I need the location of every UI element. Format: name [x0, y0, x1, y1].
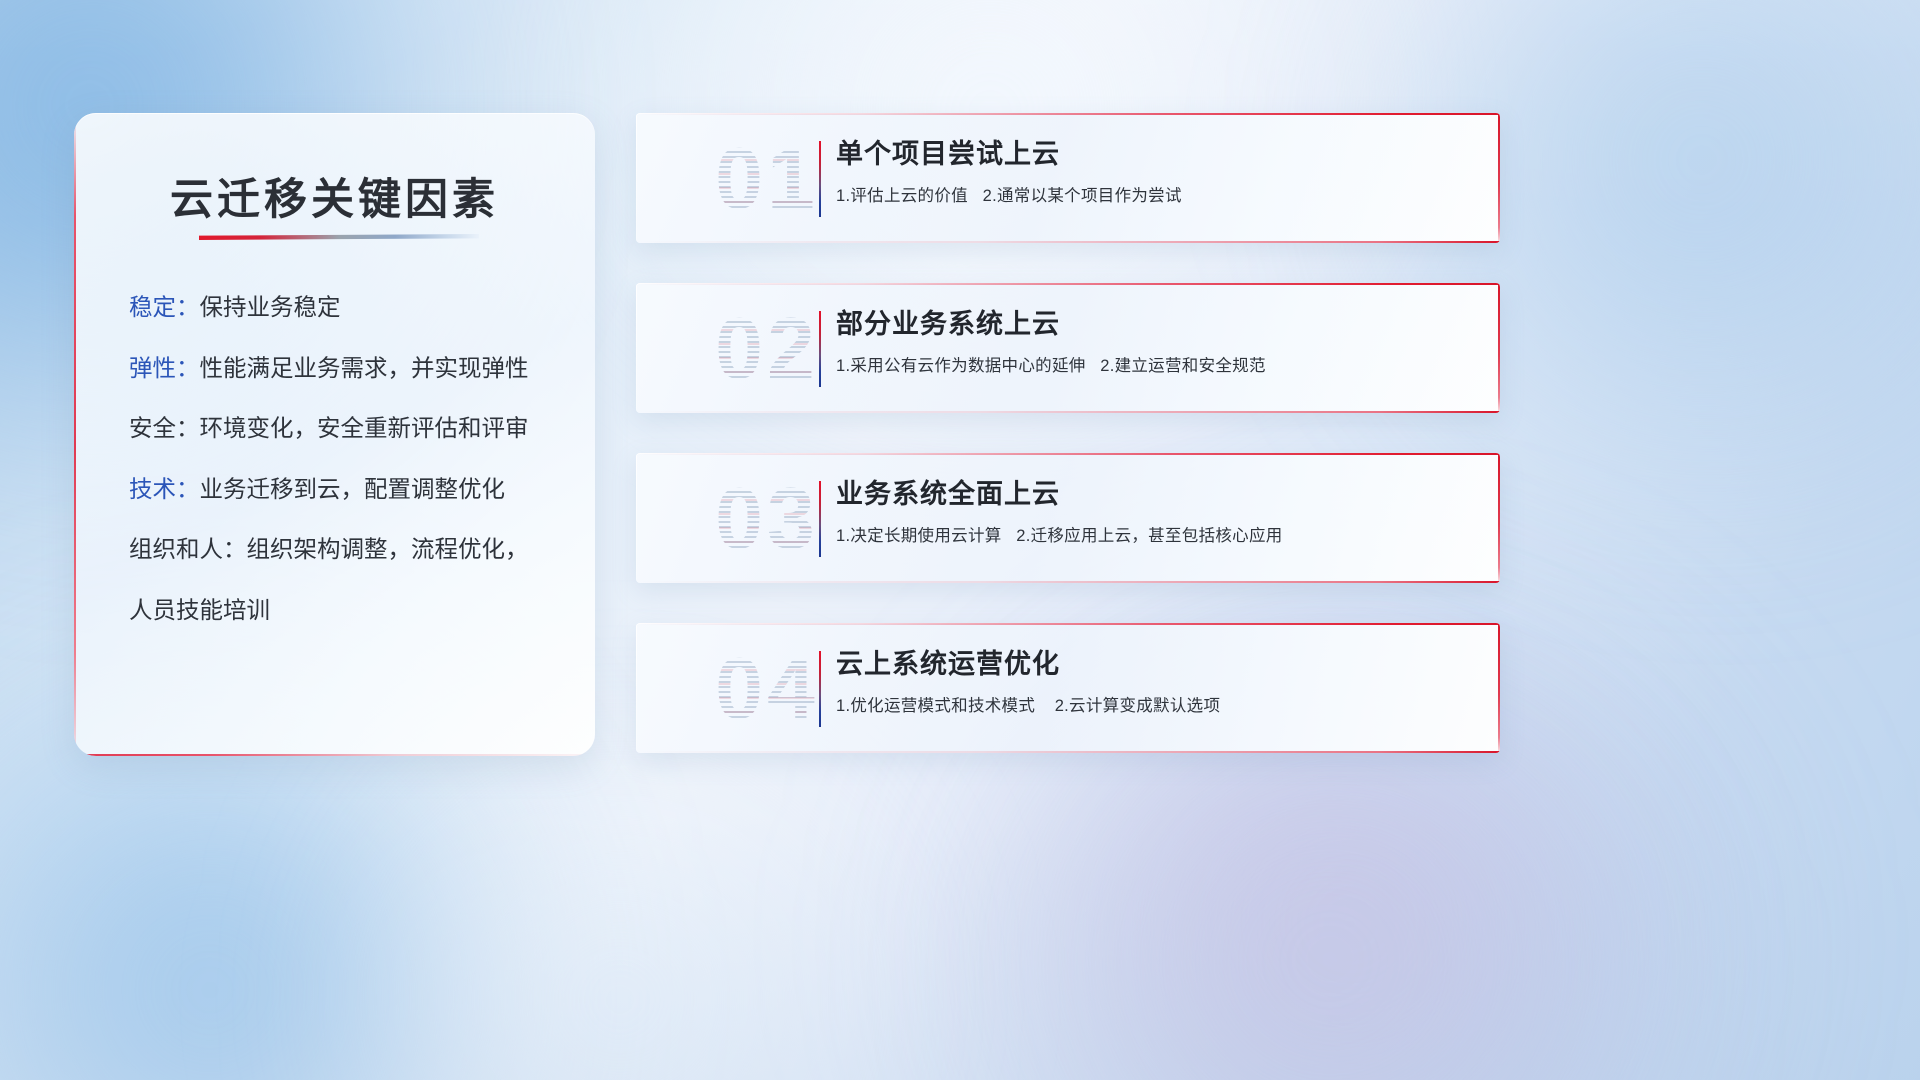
card-right-accent-border — [1498, 283, 1500, 413]
factor-value: 组织架构调整，流程优化， — [247, 536, 529, 562]
factor-label: 组织和人： — [129, 536, 247, 562]
factor-item: 组织和人：组织架构调整，流程优化， — [129, 538, 571, 562]
step-divider-line — [819, 481, 821, 557]
step-divider-line — [819, 311, 821, 387]
step-description: 1.优化运营模式和技术模式 2.云计算变成默认选项 — [836, 694, 1476, 718]
factor-label: 弹性： — [129, 355, 200, 381]
page-title: 云迁移关键因素 — [74, 165, 595, 227]
step-description: 1.决定长期使用云计算 2.迁移应用上云，甚至包括核心应用 — [836, 524, 1476, 548]
step-content: 部分业务系统上云 1.采用公有云作为数据中心的延伸 2.建立运营和安全规范 — [836, 305, 1476, 378]
factor-value: 保持业务稳定 — [200, 294, 341, 320]
panel-bottom-accent-border — [74, 754, 595, 756]
step-card[interactable]: 01 01 单个项目尝试上云 1.评估上云的价值 2.通常以某个项目作为尝试 — [636, 113, 1500, 243]
factor-item: 稳定：保持业务稳定 — [129, 296, 571, 320]
card-right-accent-border — [1498, 623, 1500, 753]
card-left-highlight — [636, 623, 637, 753]
key-factors-panel: 云迁移关键因素 稳定：保持业务稳定 弹性：性能满足业务需求，并实现弹性 安全：环… — [74, 113, 595, 756]
title-underline-gradient — [199, 234, 479, 240]
factor-item: 安全：环境变化，安全重新评估和评审 — [129, 417, 571, 441]
step-card[interactable]: 03 03 业务系统全面上云 1.决定长期使用云计算 2.迁移应用上云，甚至包括… — [636, 453, 1500, 583]
card-top-accent-border — [636, 113, 1500, 115]
step-content: 云上系统运营优化 1.优化运营模式和技术模式 2.云计算变成默认选项 — [836, 645, 1476, 718]
card-left-highlight — [636, 283, 637, 413]
step-description: 1.评估上云的价值 2.通常以某个项目作为尝试 — [836, 184, 1476, 208]
factor-item-continuation: 人员技能培训 — [129, 599, 571, 623]
card-top-accent-border — [636, 283, 1500, 285]
card-bottom-accent-border — [636, 241, 1500, 243]
card-right-accent-border — [1498, 453, 1500, 583]
step-card[interactable]: 04 04 云上系统运营优化 1.优化运营模式和技术模式 2.云计算变成默认选项 — [636, 623, 1500, 753]
card-top-accent-border — [636, 623, 1500, 625]
panel-top-highlight — [84, 113, 585, 114]
card-right-accent-border — [1498, 113, 1500, 243]
card-bottom-accent-border — [636, 751, 1500, 753]
step-content: 业务系统全面上云 1.决定长期使用云计算 2.迁移应用上云，甚至包括核心应用 — [836, 475, 1476, 548]
factor-value: 环境变化，安全重新评估和评审 — [200, 415, 529, 441]
step-description: 1.采用公有云作为数据中心的延伸 2.建立运营和安全规范 — [836, 354, 1476, 378]
step-title: 部分业务系统上云 — [836, 305, 1476, 343]
migration-steps-list: 01 01 单个项目尝试上云 1.评估上云的价值 2.通常以某个项目作为尝试 0… — [636, 113, 1500, 753]
step-title: 云上系统运营优化 — [836, 645, 1476, 683]
step-title: 单个项目尝试上云 — [836, 135, 1476, 173]
card-top-accent-border — [636, 453, 1500, 455]
card-left-highlight — [636, 113, 637, 243]
card-left-highlight — [636, 453, 637, 583]
step-card[interactable]: 02 02 部分业务系统上云 1.采用公有云作为数据中心的延伸 2.建立运营和安… — [636, 283, 1500, 413]
factor-label: 稳定： — [129, 294, 200, 320]
step-content: 单个项目尝试上云 1.评估上云的价值 2.通常以某个项目作为尝试 — [836, 135, 1476, 208]
factor-item: 弹性：性能满足业务需求，并实现弹性 — [129, 357, 571, 381]
card-bottom-accent-border — [636, 411, 1500, 413]
factor-value: 业务迁移到云，配置调整优化 — [200, 476, 506, 502]
factor-value: 性能满足业务需求，并实现弹性 — [200, 355, 529, 381]
card-bottom-accent-border — [636, 581, 1500, 583]
step-title: 业务系统全面上云 — [836, 475, 1476, 513]
factor-label: 技术： — [129, 476, 200, 502]
step-divider-line — [819, 141, 821, 217]
factor-item: 技术：业务迁移到云，配置调整优化 — [129, 478, 571, 502]
factor-label: 安全： — [129, 415, 200, 441]
factor-value: 人员技能培训 — [129, 597, 270, 623]
step-divider-line — [819, 651, 821, 727]
key-factors-list: 稳定：保持业务稳定 弹性：性能满足业务需求，并实现弹性 安全：环境变化，安全重新… — [129, 296, 571, 622]
